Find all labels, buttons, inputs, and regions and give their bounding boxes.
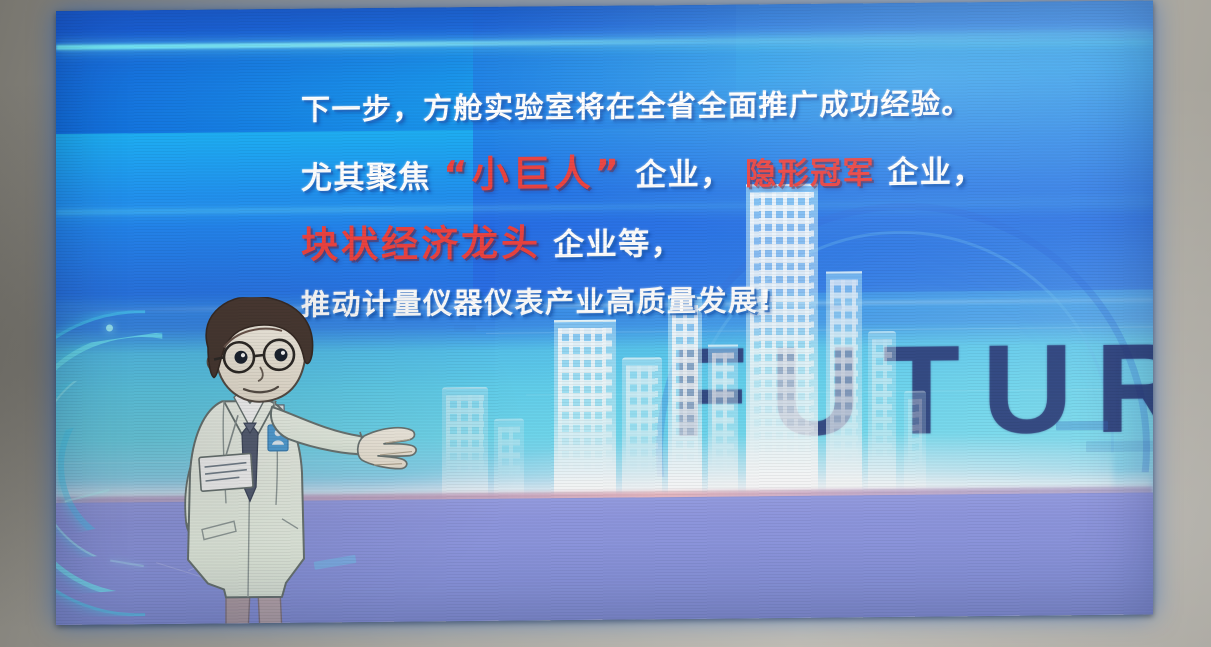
led-display-screen: FUTURE	[56, 0, 1153, 625]
headline-segment-emphasis: “小巨人”	[443, 152, 623, 197]
eye	[275, 348, 288, 361]
headline-segment: 企业，	[887, 154, 985, 191]
headline-line-1: 下一步，方舱实验室将在全省全面推广成功经验。	[301, 79, 1091, 129]
decor-chip	[454, 325, 476, 331]
cartoon-scientist-character	[164, 295, 439, 625]
headline-segment: 下一步，方舱实验室将在全省全面推广成功经验。	[301, 86, 972, 126]
right-hand	[358, 428, 416, 470]
photograph: FUTURE	[0, 0, 1211, 647]
decor-chip	[1086, 440, 1153, 452]
slide-headline-block: 下一步，方舱实验室将在全省全面推广成功经验。 尤其聚焦 “小巨人” 企业， 隐形…	[301, 79, 1091, 324]
decor-chip	[1056, 421, 1108, 430]
headline-segment-emphasis: 隐形冠军	[745, 155, 875, 192]
eye	[235, 351, 248, 364]
headline-segment-emphasis: 块状经济龙头	[301, 221, 541, 266]
headline-segment: 企业，	[635, 157, 733, 194]
headline-line-3: 块状经济龙头 企业等，	[301, 207, 1091, 269]
slide-canvas: FUTURE	[56, 0, 1153, 625]
headline-segment: 尤其聚焦	[301, 159, 431, 196]
headline-line-2: 尤其聚焦 “小巨人” 企业， 隐形冠军 企业，	[301, 138, 1091, 200]
headline-segment: 企业等，	[553, 226, 683, 263]
